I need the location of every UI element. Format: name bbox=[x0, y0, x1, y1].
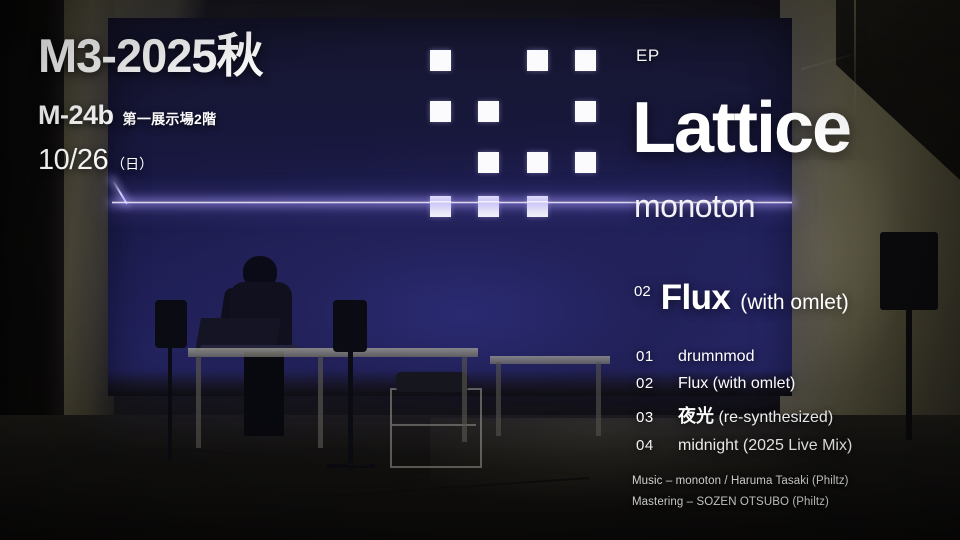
performance-table-leg-2 bbox=[318, 356, 323, 448]
featured-track-subtitle: (with omlet) bbox=[740, 291, 849, 315]
performance-table-leg-1 bbox=[196, 356, 201, 448]
event-booth-row: M-24b 第一展示場2階 bbox=[38, 100, 398, 131]
featured-track-name: Flux bbox=[661, 278, 731, 318]
tracklist-row-number: 04 bbox=[636, 437, 678, 454]
event-weekday: （日） bbox=[111, 154, 153, 174]
tracklist: 01drumnmod02Flux (with omlet)03夜光 (re-sy… bbox=[636, 348, 852, 464]
lattice-cell bbox=[575, 152, 596, 173]
speaker-right-stand bbox=[348, 352, 353, 470]
event-header: M3-2025秋 M-24b 第一展示場2階 10/26 （日） bbox=[38, 32, 398, 177]
speaker-left-stand bbox=[168, 348, 172, 460]
speaker-far-right bbox=[880, 232, 938, 310]
tracklist-row: 04midnight (2025 Live Mix) bbox=[636, 437, 852, 455]
tracklist-row-number: 03 bbox=[636, 409, 678, 426]
side-table-leg-left bbox=[496, 362, 501, 436]
event-booth-number: M-24b bbox=[38, 100, 114, 131]
credits-block: Music – monoton / Haruma Tasaki (Philtz)… bbox=[632, 475, 849, 517]
featured-track: 02 Flux (with omlet) bbox=[634, 278, 849, 318]
tracklist-row-title: 夜光 (re-synthesized) bbox=[678, 402, 833, 428]
tracklist-row-title: midnight (2025 Live Mix) bbox=[678, 437, 852, 455]
lattice-cell bbox=[575, 101, 596, 122]
tracklist-row-title: drumnmod bbox=[678, 348, 754, 366]
wall-seam-vertical bbox=[854, 0, 856, 120]
album-title: Lattice bbox=[632, 92, 850, 164]
event-title: M3-2025秋 bbox=[38, 32, 398, 79]
release-format-label: EP bbox=[636, 46, 660, 65]
tracklist-row-number: 01 bbox=[636, 348, 678, 365]
tracklist-row: 01drumnmod bbox=[636, 348, 852, 366]
event-date-row: 10/26 （日） bbox=[38, 144, 398, 177]
credit-line: Mastering – SOZEN OTSUBO (Philtz) bbox=[632, 496, 849, 508]
equipment-cart-items bbox=[396, 372, 468, 392]
performance-table-leg-3 bbox=[462, 356, 467, 442]
lattice-graphic bbox=[422, 44, 592, 216]
event-venue-hall: 第一展示場2階 bbox=[123, 109, 217, 129]
lattice-cell bbox=[527, 50, 548, 71]
performer-legs bbox=[244, 348, 284, 436]
event-date: 10/26 bbox=[38, 144, 108, 177]
release-format: EP bbox=[636, 46, 660, 66]
speaker-right bbox=[333, 300, 367, 352]
featured-track-number: 02 bbox=[634, 283, 651, 300]
lattice-cell bbox=[430, 196, 451, 217]
tracklist-row-title-jp: 夜光 bbox=[678, 406, 714, 426]
lattice-cell bbox=[478, 152, 499, 173]
credit-line: Music – monoton / Haruma Tasaki (Philtz) bbox=[632, 475, 849, 487]
artist-name: monoton bbox=[634, 188, 755, 225]
speaker-left bbox=[155, 300, 187, 348]
side-table bbox=[490, 356, 610, 364]
equipment-cart bbox=[390, 388, 482, 468]
lattice-cell bbox=[430, 50, 451, 71]
lattice-cell bbox=[478, 196, 499, 217]
lattice-cell bbox=[575, 50, 596, 71]
tracklist-row-title: Flux (with omlet) bbox=[678, 375, 795, 393]
tracklist-row-number: 02 bbox=[636, 375, 678, 392]
side-table-leg-right bbox=[596, 362, 601, 436]
lattice-cell bbox=[430, 101, 451, 122]
lattice-cell bbox=[527, 196, 548, 217]
tracklist-row: 03夜光 (re-synthesized) bbox=[636, 402, 852, 428]
presentation-photo: M3-2025秋 M-24b 第一展示場2階 10/26 （日） EP Latt… bbox=[0, 0, 960, 540]
lattice-cell bbox=[527, 152, 548, 173]
lattice-cell bbox=[478, 101, 499, 122]
speaker-far-right-stand bbox=[906, 308, 912, 440]
tracklist-row: 02Flux (with omlet) bbox=[636, 375, 852, 393]
